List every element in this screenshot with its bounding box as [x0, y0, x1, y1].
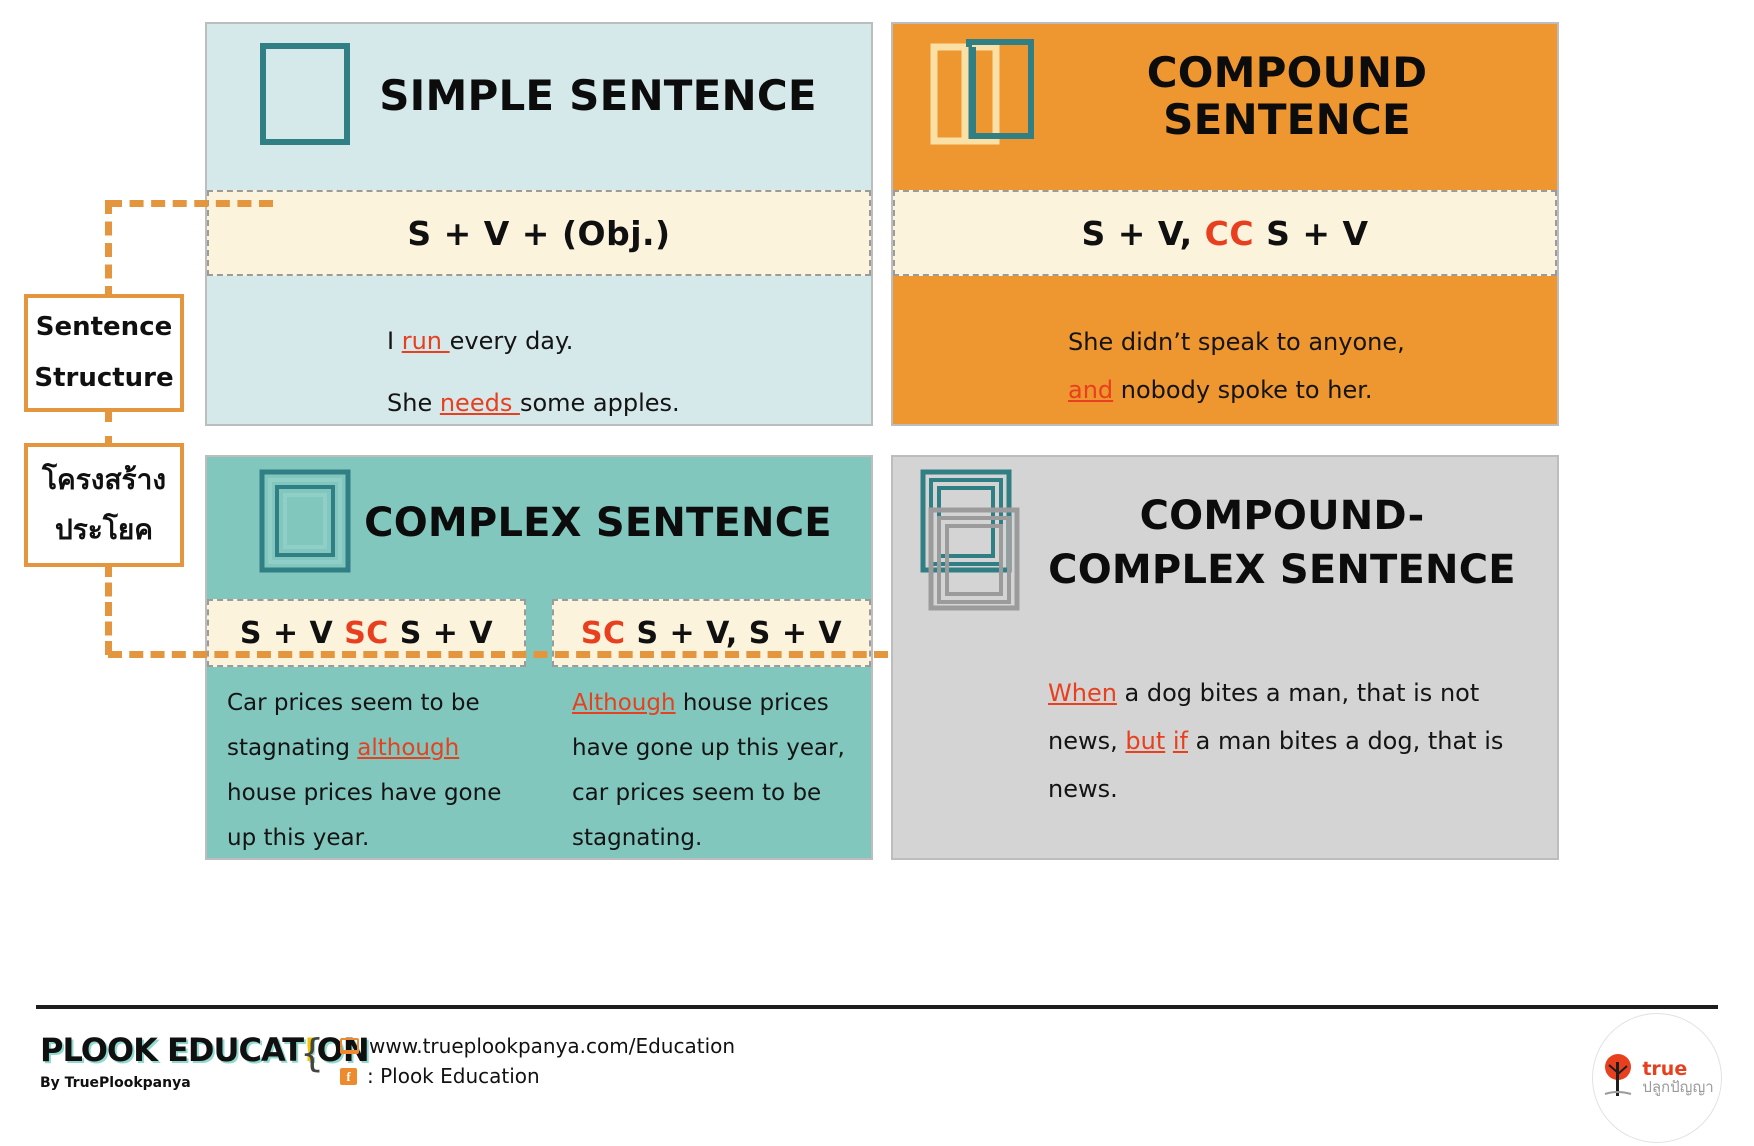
- compound-example-line2: and nobody spoke to her.: [1068, 366, 1557, 414]
- footer: PLOOK EDUCAT!ON By TruePlookpanya { www.…: [0, 1009, 1754, 1146]
- contact-info: www.trueplookpanya.com/Education f : Plo…: [340, 1031, 735, 1091]
- connector-bottom-horizontal: [108, 651, 888, 658]
- connector-top-horizontal: [108, 200, 273, 207]
- compound-formula: S + V, CC S + V: [893, 190, 1557, 276]
- connector-top-vertical: [105, 200, 112, 300]
- facebook-row[interactable]: f : Plook Education: [340, 1061, 735, 1091]
- label-en-line1: Sentence: [36, 302, 173, 353]
- label-th-line1: โครงสร้าง: [42, 455, 166, 505]
- label-sentence-structure-th: โครงสร้าง ประโยค: [24, 443, 184, 567]
- monitor-icon: [340, 1038, 359, 1054]
- compound-card-title: COMPOUND SENTENCE: [1037, 49, 1537, 143]
- complex-card-title: COMPLEX SENTENCE: [351, 501, 845, 546]
- connector-bottom-vertical: [105, 563, 112, 655]
- complex-card-header: COMPLEX SENTENCE: [207, 457, 871, 589]
- plook-education-logo: PLOOK EDUCAT!ON By TruePlookpanya: [40, 1031, 340, 1091]
- compound-example-line1: She didn’t speak to anyone,: [1068, 318, 1557, 366]
- true-name: true: [1642, 1058, 1687, 1080]
- sentence-structure-label-column: Sentence Structure โครงสร้าง ประโยค: [0, 0, 205, 1000]
- nested-rectangles-icon: [259, 469, 351, 577]
- simple-formula: S + V + (Obj.): [207, 190, 871, 276]
- simple-example-2: She needs some apples.: [387, 372, 871, 426]
- simple-examples: I run every day. She needs some apples.: [207, 276, 871, 426]
- compound-examples: She didn’t speak to anyone, and nobody s…: [893, 276, 1557, 414]
- nested-overlapping-rectangles-icon: [913, 466, 1033, 620]
- label-th-line2: ประโยค: [55, 505, 153, 555]
- simple-example-1: I run every day.: [387, 310, 871, 372]
- simple-card-title: SIMPLE SENTENCE: [351, 72, 845, 119]
- label-sentence-structure-en: Sentence Structure: [24, 294, 184, 412]
- compound-complex-example: When a dog bites a man, that is not news…: [893, 647, 1557, 813]
- tree-icon: [1600, 1052, 1642, 1104]
- website-url[interactable]: www.trueplookpanya.com/Education: [369, 1031, 735, 1061]
- brace-separator: {: [300, 1031, 324, 1075]
- compound-complex-card-title: COMPOUND-COMPLEX SENTENCE: [1033, 489, 1531, 597]
- compound-card-header: COMPOUND SENTENCE: [893, 24, 1557, 168]
- plook-education-wordmark: PLOOK EDUCAT!ON: [40, 1031, 340, 1069]
- card-compound-sentence: COMPOUND SENTENCE S + V, CC S + V She di…: [891, 22, 1559, 426]
- label-en-line2: Structure: [34, 353, 173, 404]
- complex-columns: S + V SC S + V Car prices seem to be sta…: [207, 589, 871, 858]
- true-thai-name: ปลูกปัญญา: [1642, 1080, 1713, 1096]
- complex-column-1: S + V SC S + V Car prices seem to be sta…: [207, 589, 526, 858]
- website-row[interactable]: www.trueplookpanya.com/Education: [340, 1031, 735, 1061]
- simple-card-header: SIMPLE SENTENCE: [207, 24, 871, 168]
- card-compound-complex-sentence: COMPOUND-COMPLEX SENTENCE When a dog bit…: [891, 455, 1559, 860]
- card-simple-sentence: SIMPLE SENTENCE S + V + (Obj.) I run eve…: [205, 22, 873, 426]
- facebook-icon: f: [340, 1068, 357, 1085]
- plook-education-byline: By TruePlookpanya: [40, 1075, 340, 1091]
- complex-example-1: Car prices seem to be stagnating althoug…: [207, 667, 526, 860]
- single-rectangle-icon: [259, 42, 351, 150]
- complex-column-2: SC S + V, S + V Although house prices ha…: [552, 589, 871, 858]
- true-plookpanya-logo: true ปลูกปัญญา: [1592, 1013, 1722, 1143]
- compound-complex-card-header: COMPOUND-COMPLEX SENTENCE: [893, 457, 1557, 629]
- complex-example-2: Although house prices have gone up this …: [552, 667, 871, 860]
- facebook-handle[interactable]: : Plook Education: [367, 1061, 540, 1091]
- true-wordmark: true ปลูกปัญญา: [1642, 1060, 1713, 1096]
- two-overlapping-rectangles-icon: [929, 39, 1037, 153]
